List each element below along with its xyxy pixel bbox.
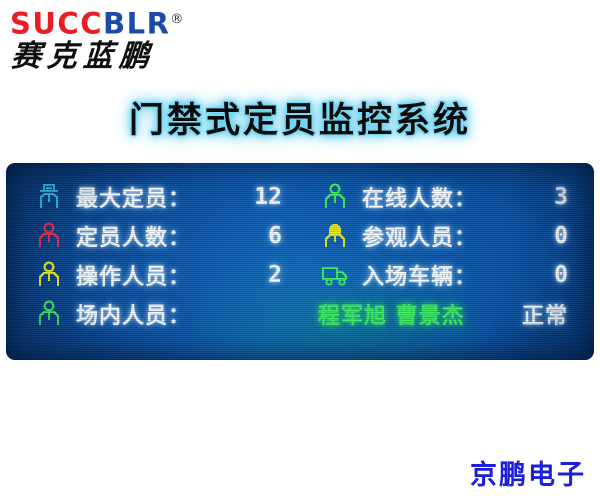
- logo-wordmark: SUCCBLR®: [8, 4, 238, 40]
- led-field-onsite-personnel: 场内人员：: [18, 294, 296, 333]
- person-red-icon: [32, 221, 66, 251]
- led-value: 3: [554, 184, 568, 210]
- led-label: 在线人数：: [362, 181, 477, 213]
- led-value: 2: [268, 262, 282, 288]
- led-value: 6: [268, 223, 282, 249]
- page-title: 门禁式定员监控系统: [0, 92, 600, 143]
- led-display-panel: 最大定员： 12 在线人数： 3: [6, 163, 594, 360]
- led-value: 0: [554, 262, 568, 288]
- led-row: 操作人员： 2 入场车辆： 0: [18, 255, 582, 294]
- logo-wordmark-red: SUCC: [10, 7, 103, 41]
- logo-chinese-name: 赛克蓝鹏: [8, 40, 240, 74]
- led-label: 最大定员：: [76, 181, 191, 213]
- led-label: 操作人员：: [76, 259, 191, 291]
- led-field-operator-count: 操作人员： 2: [18, 255, 296, 294]
- led-label: 参观人员：: [362, 220, 477, 252]
- person-with-cap-icon: [32, 182, 66, 212]
- led-content-grid: 最大定员： 12 在线人数： 3: [6, 163, 594, 360]
- led-label: 定员人数：: [76, 220, 191, 252]
- brand-logo: SUCCBLR® 赛克蓝鹏: [8, 4, 238, 76]
- led-field-online-count: 在线人数： 3: [304, 177, 582, 216]
- person-green-icon: [32, 299, 66, 329]
- person-yellow-icon: [32, 260, 66, 290]
- led-label: 场内人员：: [76, 298, 191, 330]
- led-label: 入场车辆：: [362, 259, 477, 291]
- led-value: 12: [254, 184, 282, 210]
- led-row: 最大定员： 12 在线人数： 3: [18, 177, 582, 216]
- led-field-max-capacity: 最大定员： 12: [18, 177, 296, 216]
- logo-wordmark-blue: BLR: [103, 7, 170, 41]
- status-badge: 正常: [522, 298, 568, 330]
- person-online-icon: [318, 182, 352, 212]
- led-field-registered-count: 定员人数： 6: [18, 216, 296, 255]
- led-row: 定员人数： 6 参观人员： 0: [18, 216, 582, 255]
- visitor-helmet-icon: [318, 221, 352, 251]
- led-field-visitor-count: 参观人员： 0: [304, 216, 582, 255]
- truck-icon: [318, 260, 352, 290]
- led-row: 场内人员： 程军旭 曹景杰 正常: [18, 294, 582, 333]
- led-onsite-names-and-status: 程军旭 曹景杰 正常: [304, 294, 582, 333]
- led-onsite-names: 程军旭 曹景杰: [318, 298, 465, 330]
- footer-company-name: 京鹏电子: [470, 453, 586, 492]
- registered-trademark-icon: ®: [170, 12, 183, 27]
- led-field-vehicle-count: 入场车辆： 0: [304, 255, 582, 294]
- led-value: 0: [554, 223, 568, 249]
